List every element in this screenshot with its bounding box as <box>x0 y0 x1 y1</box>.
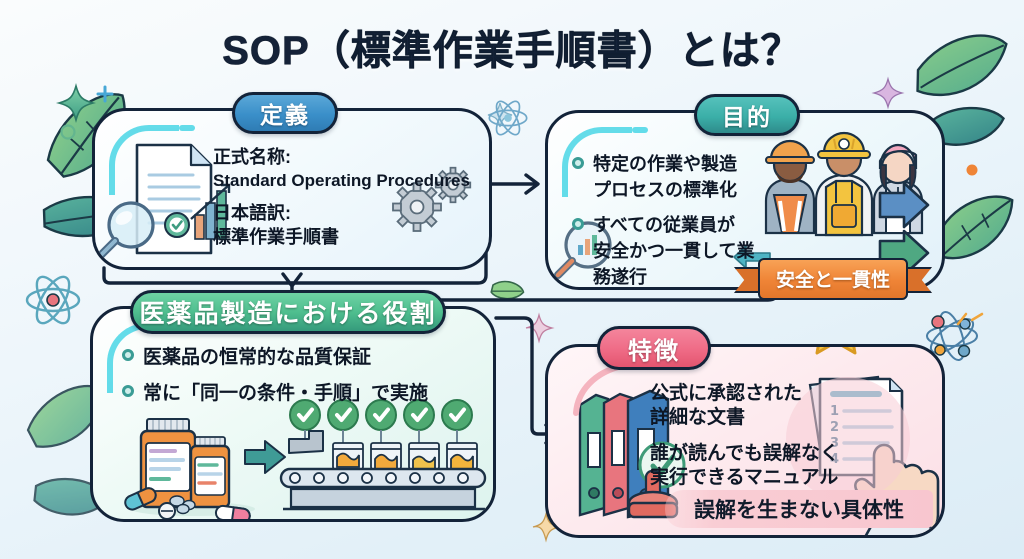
feature-line-1: 公式に承認された 詳細な文書 <box>650 382 920 431</box>
sparkle-icon <box>488 103 512 127</box>
pill-bottles-icon <box>123 419 255 522</box>
definition-text-block: 正式名称: Standard Operating Procedures 日本語訳… <box>213 146 488 249</box>
bullet-dot-icon <box>572 157 584 169</box>
role-bullet-1: 医薬品の恒常的な品質保証 <box>143 342 371 369</box>
badge-feature: 特徴 <box>597 326 711 370</box>
badge-role: 医薬品製造における役割 <box>130 290 446 334</box>
list-item: 医薬品の恒常的な品質保証 <box>122 342 492 369</box>
sparkle-icon <box>874 79 902 107</box>
purpose-bullet-2: すべての従業員が 安全かつ一貫して業 務遂行 <box>593 211 754 289</box>
feature-line-2: 誰が読んでも誤解なく 実行できるマニュアル <box>650 442 920 491</box>
star-icon <box>805 344 867 353</box>
list-item: 特定の作業や製造 プロセスの標準化 <box>572 150 782 202</box>
feature-text-block: 公式に承認された 詳細な文書 誰が読んでも誤解なく 実行できるマニュアル <box>650 382 920 490</box>
leaf-icon <box>489 274 525 307</box>
badge-purpose-label: 目的 <box>722 98 772 132</box>
list-item: 常に「同一の条件・手順」で実施 <box>122 378 492 405</box>
ribbon-safety-consistency: 安全と一貫性 <box>758 258 908 300</box>
definition-line-1: 正式名称: <box>213 146 488 169</box>
workers-icon <box>766 133 922 235</box>
circle-outline-icon <box>62 126 75 139</box>
bullet-dot-icon <box>122 385 134 397</box>
ribbon-label: 安全と一貫性 <box>758 258 908 300</box>
badge-purpose: 目的 <box>694 94 800 136</box>
arrow-right-teal-icon <box>245 441 285 473</box>
feature-footer-banner: 誤解を生まない具体性 <box>665 490 933 528</box>
definition-line-4: 標準作業手順書 <box>213 226 488 249</box>
role-bullet-list: 医薬品の恒常的な品質保証 常に「同一の条件・手順」で実施 <box>122 342 492 414</box>
role-bullet-2: 常に「同一の条件・手順」で実施 <box>143 378 428 405</box>
badge-feature-label: 特徴 <box>628 331 680 366</box>
definition-line-2: Standard Operating Procedures <box>213 170 488 192</box>
page-title: SOP（標準作業手順書）とは？ <box>0 18 1024 76</box>
badge-role-label: 医薬品製造における役割 <box>139 294 436 330</box>
dot-icon <box>967 165 978 176</box>
sparkle-icon <box>59 86 93 120</box>
definition-line-3: 日本語訳: <box>213 202 488 225</box>
infographic-canvas: SOP（標準作業手順書）とは？ <box>0 0 1024 559</box>
atom-icon <box>489 98 526 138</box>
feature-footer-label: 誤解を生まない具体性 <box>694 494 904 524</box>
bullet-dot-icon <box>122 349 134 361</box>
sparkle-icon <box>526 315 552 341</box>
atom-icon <box>27 272 79 328</box>
purpose-bullet-1: 特定の作業や製造 プロセスの標準化 <box>593 150 737 202</box>
panel-role <box>90 306 496 522</box>
plus-icon <box>98 87 112 101</box>
badge-definition: 定義 <box>232 92 338 134</box>
badge-definition-label: 定義 <box>260 96 310 130</box>
bullet-dot-icon <box>572 218 584 230</box>
confetti-icon <box>958 314 982 324</box>
conveyor-belt-icon <box>281 400 485 509</box>
check-badge-icon <box>165 213 189 237</box>
